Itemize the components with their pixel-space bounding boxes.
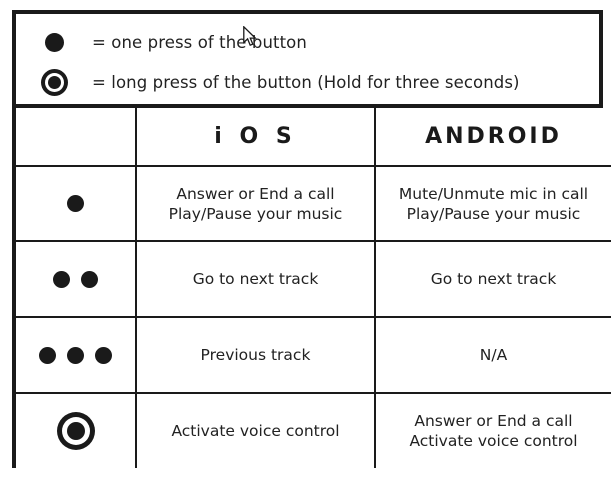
cell-icon-two-dots xyxy=(16,241,136,317)
dot-shape xyxy=(53,271,70,288)
cell-text: Answer or End a call Play/Pause your mus… xyxy=(169,185,343,223)
cell-text: N/A xyxy=(480,346,507,364)
long-press-ring-icon xyxy=(16,412,135,450)
cell-android-row-3: N/A xyxy=(375,317,611,393)
ring-shape xyxy=(57,412,95,450)
cell-icon-long-press xyxy=(16,393,136,468)
reference-chart: = one press of the button = long press o… xyxy=(12,10,603,468)
dot-shape xyxy=(81,271,98,288)
header-cell-android: ANDROID xyxy=(375,108,611,166)
table-row: Answer or End a call Play/Pause your mus… xyxy=(16,166,611,242)
header-cell-ios: i O S xyxy=(136,108,375,166)
cell-ios-row-1: Answer or End a call Play/Pause your mus… xyxy=(136,166,375,242)
cell-icon-three-dots xyxy=(16,317,136,393)
header-cell-icon-column xyxy=(16,108,136,166)
dot-shape xyxy=(67,347,84,364)
table-row: Previous track N/A xyxy=(16,317,611,393)
filled-dot-icon xyxy=(16,33,92,52)
cell-ios-row-2: Go to next track xyxy=(136,241,375,317)
cell-text: Previous track xyxy=(201,346,311,364)
cell-text: Activate voice control xyxy=(171,422,339,440)
header-ios-label: i O S xyxy=(214,124,296,149)
cell-android-row-4: Answer or End a call Activate voice cont… xyxy=(375,393,611,468)
dot-shape xyxy=(45,33,64,52)
dot-shape xyxy=(39,347,56,364)
legend-long-press-label: = long press of the button (Hold for thr… xyxy=(92,73,520,92)
table-row: Go to next track Go to next track xyxy=(16,241,611,317)
legend-row-single-press: = one press of the button xyxy=(16,22,599,62)
cell-text: Go to next track xyxy=(193,270,319,288)
cell-text: Mute/Unmute mic in call Play/Pause your … xyxy=(399,185,588,223)
page-root: = one press of the button = long press o… xyxy=(0,0,613,479)
cell-text: Answer or End a call Activate voice cont… xyxy=(409,412,577,450)
header-android-label: ANDROID xyxy=(425,124,562,149)
cell-icon-one-dot xyxy=(16,166,136,242)
cell-android-row-2: Go to next track xyxy=(375,241,611,317)
cell-text: Go to next track xyxy=(431,270,557,288)
legend-row-long-press: = long press of the button (Hold for thr… xyxy=(16,62,599,102)
three-dots-icon xyxy=(16,347,135,364)
dot-shape xyxy=(67,195,84,212)
ring-dot-icon xyxy=(16,69,92,96)
legend-single-press-label: = one press of the button xyxy=(92,33,307,52)
legend-block: = one press of the button = long press o… xyxy=(16,14,599,108)
dot-shape xyxy=(95,347,112,364)
two-dots-icon xyxy=(16,271,135,288)
button-reference-table: i O S ANDROID Answer or End a call Play/… xyxy=(16,108,611,468)
table-header-row: i O S ANDROID xyxy=(16,108,611,166)
cell-ios-row-4: Activate voice control xyxy=(136,393,375,468)
ring-shape xyxy=(41,69,68,96)
one-dot-icon xyxy=(16,195,135,212)
cell-ios-row-3: Previous track xyxy=(136,317,375,393)
cell-android-row-1: Mute/Unmute mic in call Play/Pause your … xyxy=(375,166,611,242)
table-row: Activate voice control Answer or End a c… xyxy=(16,393,611,468)
